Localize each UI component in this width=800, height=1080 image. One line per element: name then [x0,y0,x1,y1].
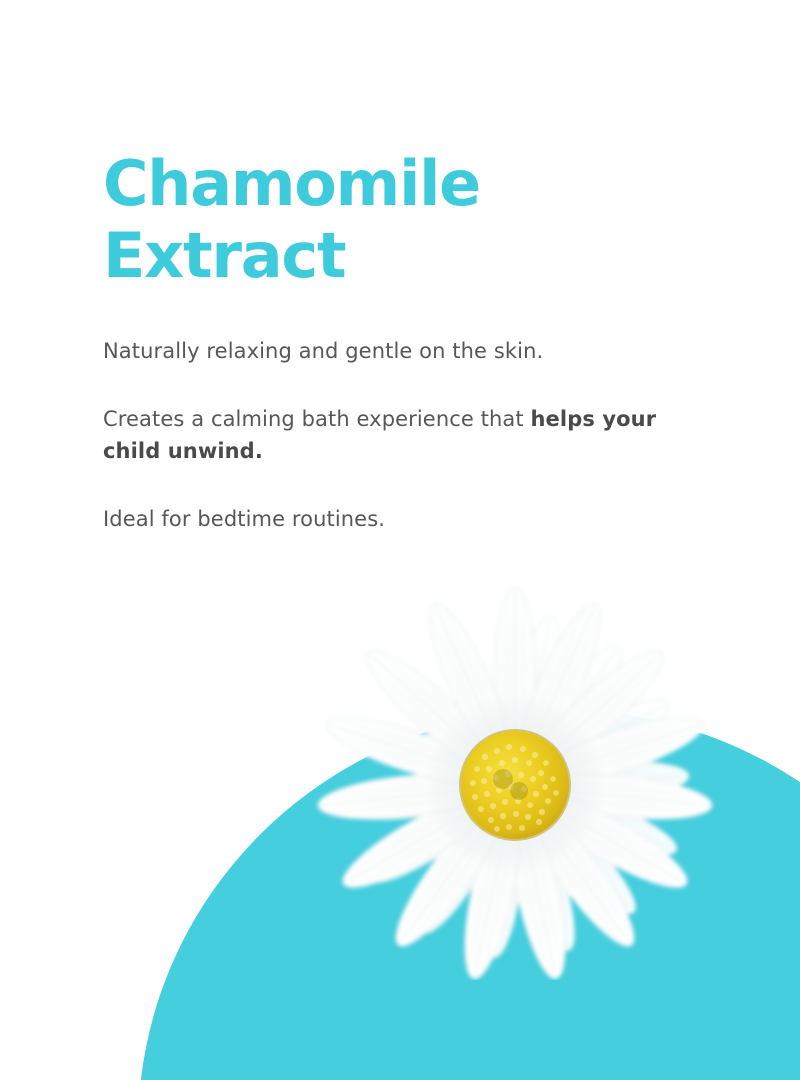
daisy-flower-image [286,585,738,980]
benefit-paragraph-3: Ideal for bedtime routines. [103,503,703,535]
slide-canvas: Chamomile Extract Naturally relaxing and… [0,0,800,1080]
text-content-block: Chamomile Extract Naturally relaxing and… [103,148,703,535]
page-title: Chamomile Extract [103,148,703,292]
benefit-paragraph-1: Naturally relaxing and gentle on the ski… [103,335,703,367]
benefit-paragraph-2: Creates a calming bath experience that h… [103,403,703,467]
description-list: Naturally relaxing and gentle on the ski… [103,335,703,535]
daisy-center [459,729,571,841]
daisy-flower-svg [286,585,738,980]
benefit-paragraph-2-lead: Creates a calming bath experience that [103,407,531,431]
